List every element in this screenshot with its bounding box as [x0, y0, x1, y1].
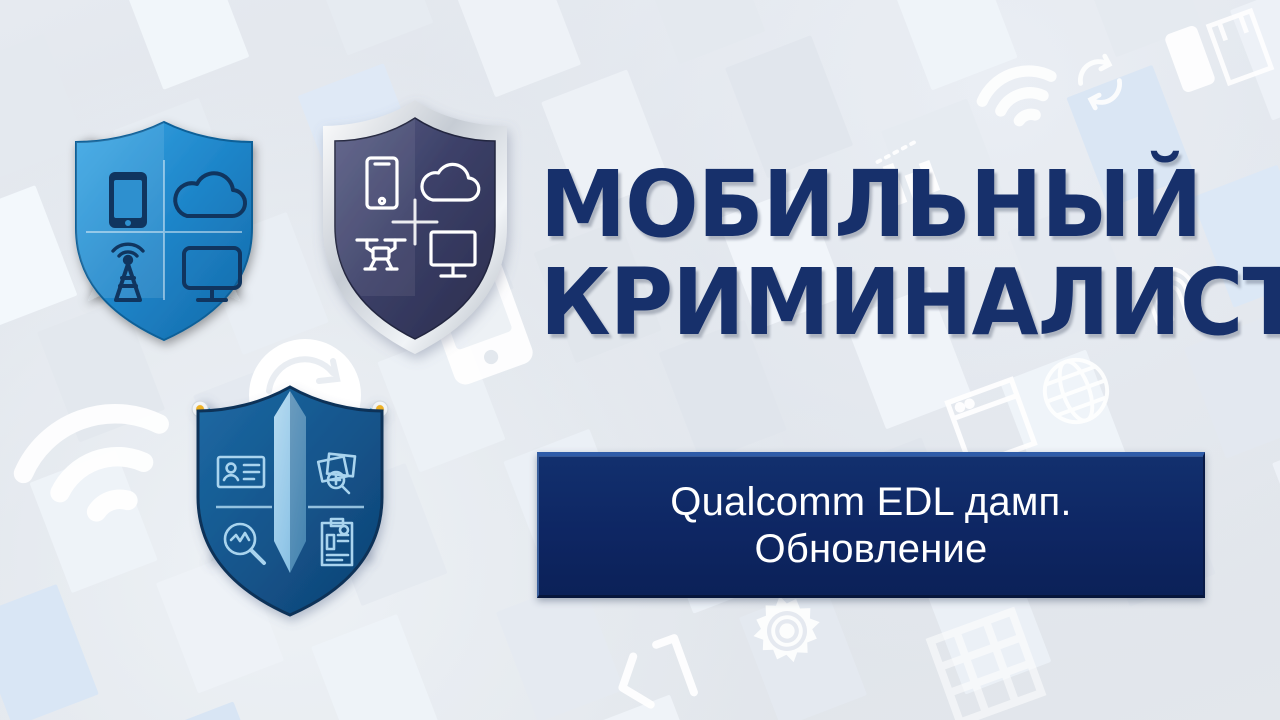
title-line-1: МОБИЛЬНЫЙ [540, 160, 1198, 250]
slide-canvas: МОБИЛЬНЫЙ КРИМИНАЛИСТ Qualcomm EDL дамп.… [0, 0, 1280, 720]
shield-investigation [140, 345, 440, 625]
gear-icon [741, 585, 834, 678]
page-title: МОБИЛЬНЫЙ КРИМИНАЛИСТ [540, 160, 1198, 348]
shield-mobile-forensics [24, 100, 304, 350]
banner-line-1: Qualcomm EDL дамп. [670, 479, 1071, 525]
banner-line-2: Обновление [755, 526, 988, 572]
shield-device-cloud [305, 92, 525, 362]
subtitle-banner: Qualcomm EDL дамп. Обновление [537, 452, 1205, 598]
title-line-2: КРИМИНАЛИСТ [540, 258, 1198, 348]
